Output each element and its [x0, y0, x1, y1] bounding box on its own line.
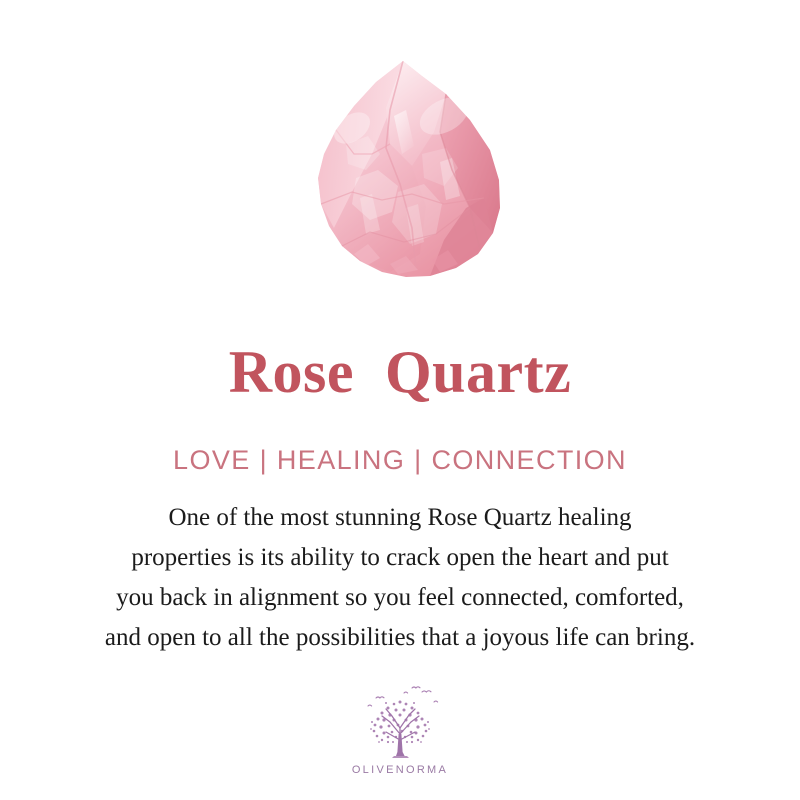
- brand-logo: OLIVENORMA: [0, 684, 800, 776]
- rose-quartz-crystal-icon: [294, 58, 516, 280]
- description-line: you back in alignment so you feel connec…: [20, 578, 780, 618]
- tree-logo-icon: [352, 684, 448, 762]
- crystal-body: [294, 58, 516, 280]
- keywords-subtitle: LOVE | HEALING | CONNECTION: [0, 443, 800, 477]
- page-title: Rose Quartz: [0, 336, 800, 408]
- description-paragraph: One of the most stunning Rose Quartz hea…: [20, 498, 780, 658]
- poster-card: Rose Quartz LOVE | HEALING | CONNECTION …: [0, 0, 800, 800]
- hero-image-area: [0, 40, 800, 290]
- brand-wordmark: OLIVENORMA: [0, 764, 800, 776]
- description-line: properties is its ability to crack open …: [20, 538, 780, 578]
- description-line: One of the most stunning Rose Quartz hea…: [20, 498, 780, 538]
- description-line: and open to all the possibilities that a…: [20, 618, 780, 658]
- rose-quartz-crystal-image: [294, 58, 516, 280]
